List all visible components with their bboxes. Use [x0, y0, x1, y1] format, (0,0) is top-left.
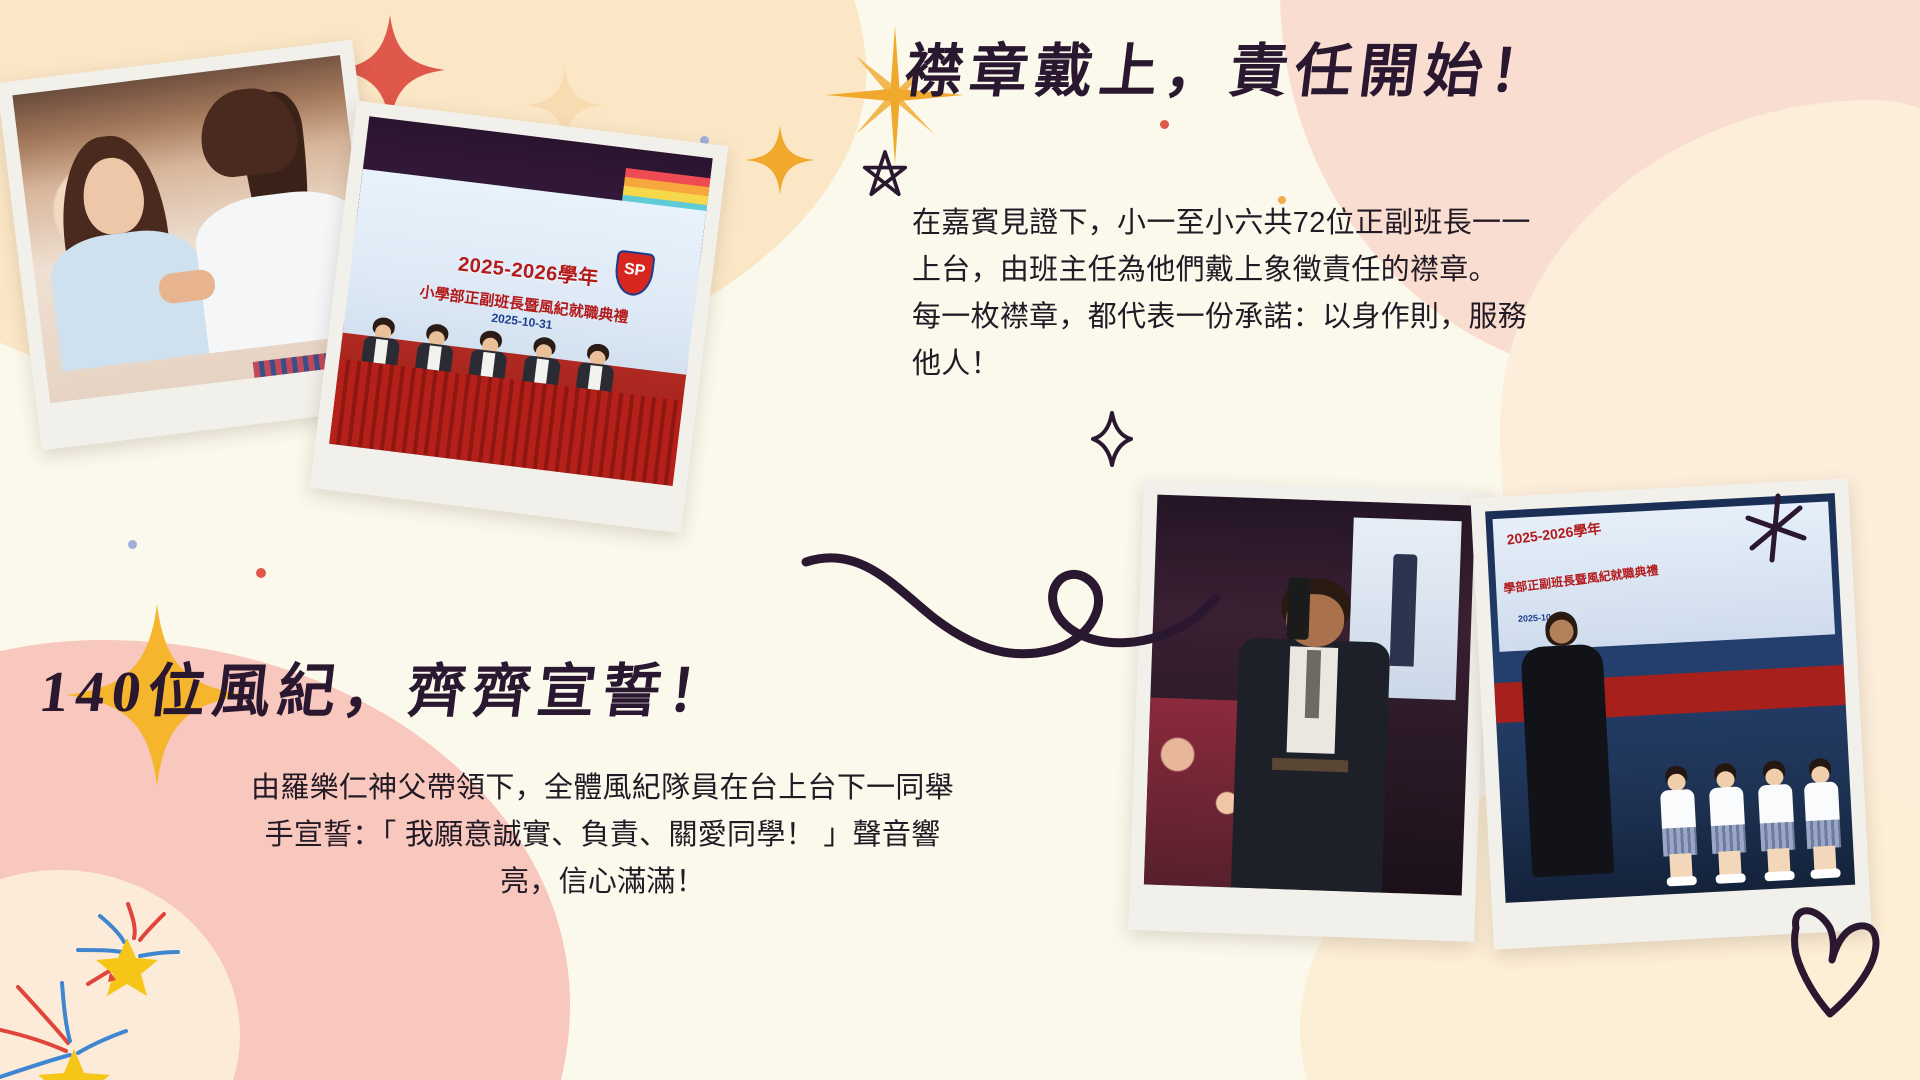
figure-adult [1520, 644, 1614, 878]
paragraph-top-line-3: 每一枚襟章，都代表一份承諾：以身作則，服務 [912, 294, 1567, 341]
photo-image [12, 55, 377, 403]
paragraph-bottom: 由羅樂仁神父帶領下，全體風紀隊員在台上台下一同舉 手宣誓：「 我願意誠實、負責、… [60, 765, 1145, 906]
doodle-star-outline-icon [862, 148, 908, 205]
doodle-heart-outline-icon [1786, 898, 1882, 1025]
paragraph-bottom-line-2: 手宣誓：「 我願意誠實、負責、關愛同學！ 」聲音響 [60, 812, 1145, 859]
paragraph-top-line-2: 上台，由班主任為他們戴上象徵責任的襟章。 [912, 247, 1567, 294]
decor-dot [128, 540, 137, 549]
microphone-icon [1286, 577, 1310, 640]
paragraph-top-line-4: 他人！ [912, 341, 1567, 388]
doodle-diamond-outline-icon [1090, 410, 1134, 473]
photo-image: SP 2025-2026學年 小學部正副班長暨風紀就職典禮 2025-10-31 [329, 116, 713, 486]
photo-stage-banner: SP 2025-2026學年 小學部正副班長暨風紀就職典禮 2025-10-31 [310, 101, 729, 534]
paragraph-top-line-1: 在嘉賓見證下，小一至小六共72位正副班長一一 [912, 200, 1567, 247]
doodle-asterisk-icon [1742, 492, 1808, 569]
figure-student [1702, 762, 1754, 884]
banner-title: 學部正副班長暨風紀就職典禮 [1502, 561, 1659, 597]
doodle-squiggle-loop-icon [800, 540, 1220, 690]
figure-student [1751, 760, 1803, 882]
decor-dot [256, 568, 266, 578]
headline-top: 襟章戴上，責任開始！ [901, 40, 1629, 104]
paragraph-top: 在嘉賓見證下，小一至小六共72位正副班長一一 上台，由班主任為他們戴上象徵責任的… [912, 200, 1567, 388]
decor-dot [1160, 120, 1169, 129]
photo-students-on-stage: 2025-2026學年 學部正副班長暨風紀就職典禮 2025-10-31 [1470, 478, 1871, 949]
figure-student [1796, 757, 1848, 879]
poster-canvas: SP 2025-2026學年 小學部正副班長暨風紀就職典禮 2025-10-31 [0, 0, 1920, 1080]
paragraph-bottom-line-1: 由羅樂仁神父帶領下，全體風紀隊員在台上台下一同舉 [60, 765, 1145, 812]
paragraph-bottom-line-3: 亮，信心滿滿！ [60, 859, 1145, 906]
firework-star-icon [0, 965, 160, 1080]
figure-student [1653, 765, 1705, 887]
sparkle-four-point-icon [740, 120, 820, 200]
banner-year: 2025-2026學年 [1506, 518, 1603, 549]
